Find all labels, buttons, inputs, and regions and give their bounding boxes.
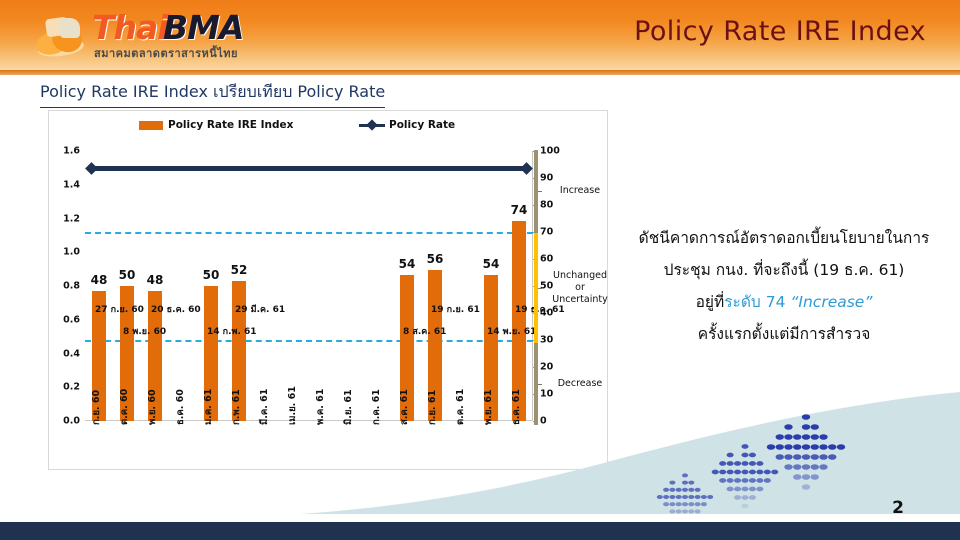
decorative-dot: [802, 454, 810, 460]
decorative-dot: [695, 509, 701, 513]
decorative-dot: [767, 444, 775, 450]
decorative-dot: [749, 470, 756, 475]
decorative-dot: [756, 487, 763, 492]
wave-shape: [300, 392, 960, 514]
left-axis-tick: 1.2: [63, 213, 80, 224]
decorative-dot: [756, 470, 763, 475]
bar-value-label: 74: [499, 203, 539, 217]
meeting-date-label: 27 ก.ย. 60: [95, 302, 144, 316]
decorative-dot: [682, 495, 688, 499]
threshold-line-70: [85, 232, 533, 234]
legend-swatch-bar-icon: [139, 121, 163, 130]
decorative-dot: [682, 481, 688, 485]
decorative-dot: [741, 495, 748, 500]
category-bracket-tick: [538, 191, 542, 192]
decorative-dot: [793, 454, 801, 460]
decorative-dot: [727, 461, 734, 466]
wave-dots-graphic: [0, 392, 960, 522]
left-axis-tick: 0.8: [63, 281, 80, 292]
category-bracket-tick: [538, 384, 542, 385]
chart-plot-area: 0.00.20.40.60.81.01.21.41.6 010203040506…: [85, 151, 533, 421]
bar-value-label: 56: [415, 252, 455, 266]
meeting-date-label: 14 ก.พ. 61: [207, 324, 257, 338]
decorative-dot: [749, 478, 756, 483]
decorative-dot: [802, 444, 810, 450]
index-category-legend: IncreaseUnchangedorUncertaintyDecrease: [534, 145, 614, 430]
bar-value-label: 48: [135, 273, 175, 287]
legend-item-ire-index: Policy Rate IRE Index: [139, 119, 293, 131]
decorative-dot: [695, 495, 701, 499]
page-number: 2: [892, 498, 904, 518]
meeting-date-label: 20 ธ.ค. 60: [151, 302, 201, 316]
decorative-dot: [741, 470, 748, 475]
decorative-dot: [741, 444, 748, 449]
decorative-dot: [802, 434, 810, 440]
decorative-dot: [688, 495, 694, 499]
page-title: Policy Rate IRE Index: [634, 16, 926, 47]
decorative-dot: [819, 454, 827, 460]
decorative-dot: [771, 470, 778, 475]
decorative-dot: [682, 473, 688, 477]
decorative-dot: [802, 424, 810, 430]
decorative-dot: [676, 488, 682, 492]
logo-text-bma: BMA: [163, 8, 244, 47]
decorative-dot: [811, 434, 819, 440]
policy-rate-marker: [520, 162, 533, 175]
meeting-date-label: 8 ส.ค. 61: [403, 324, 446, 338]
decorative-dot: [756, 461, 763, 466]
decorative-dot: [764, 478, 771, 483]
legend-label-policy-rate: Policy Rate: [389, 119, 455, 131]
decorative-dot: [663, 495, 669, 499]
decorative-dot: [657, 495, 663, 499]
summary-index-tag: “Increase”: [790, 293, 872, 311]
decorative-dot: [802, 474, 810, 480]
summary-line-3-prefix: อยู่ที่: [696, 293, 725, 311]
decorative-dot: [719, 470, 726, 475]
decorative-dot: [734, 487, 741, 492]
left-axis-tick: 1.0: [63, 247, 80, 258]
bottom-decoration: [0, 392, 960, 522]
decorative-dot: [734, 478, 741, 483]
decorative-dot: [741, 487, 748, 492]
decorative-dot: [811, 454, 819, 460]
decorative-dot: [784, 434, 792, 440]
decorative-dot: [676, 509, 682, 513]
decorative-dot: [793, 464, 801, 470]
category-bracket-tick: [538, 288, 542, 289]
chart-legend: Policy Rate IRE Index Policy Rate: [49, 119, 609, 139]
decorative-dot: [756, 478, 763, 483]
decorative-dot: [811, 464, 819, 470]
decorative-dot: [688, 481, 694, 485]
decorative-dot: [695, 488, 701, 492]
summary-line-2: ประชุม กนง. ที่จะถึงนี้ (19 ธ.ค. 61): [616, 254, 952, 286]
decorative-dot: [776, 444, 784, 450]
decorative-dot: [712, 470, 719, 475]
decorative-dot: [802, 414, 810, 420]
flower-logo-icon: [36, 18, 94, 54]
category-label: UnchangedorUncertainty: [546, 270, 614, 306]
decorative-dot: [811, 474, 819, 480]
thaibma-logo: Thai BMA สมาคมตลาดตราสารหนี้ไทย: [30, 6, 270, 64]
decorative-dot: [669, 509, 675, 513]
decorative-dot: [676, 502, 682, 506]
decorative-dot: [828, 444, 836, 450]
policy-rate-line-segment: [89, 166, 529, 171]
decorative-dot: [727, 470, 734, 475]
decorative-dot: [734, 470, 741, 475]
summary-index-value: ระดับ 74: [724, 293, 785, 311]
decorative-dot: [682, 509, 688, 513]
decorative-dot: [669, 502, 675, 506]
decorative-dot: [811, 444, 819, 450]
decorative-dot: [793, 434, 801, 440]
decorative-dot: [719, 461, 726, 466]
decorative-dot: [819, 444, 827, 450]
decorative-dot: [663, 488, 669, 492]
decorative-dot: [682, 488, 688, 492]
logo-text-thai: Thai: [92, 8, 168, 47]
summary-text-block: ดัชนีคาดการณ์อัตราดอกเบี้ยนโยบายในการ ปร…: [616, 222, 952, 350]
meeting-date-label: 19 ก.ย. 61: [431, 302, 480, 316]
summary-line-1: ดัชนีคาดการณ์อัตราดอกเบี้ยนโยบายในการ: [616, 222, 952, 254]
category-label: Decrease: [546, 378, 614, 390]
decorative-dot: [727, 487, 734, 492]
bar-value-label: 54: [471, 257, 511, 271]
left-axis-tick: 1.6: [63, 146, 80, 157]
meeting-date-label: 29 มี.ค. 61: [235, 302, 285, 316]
decorative-dot: [695, 502, 701, 506]
summary-line-3: อยู่ที่ระดับ 74 “Increase”: [616, 286, 952, 318]
decorative-dot: [719, 478, 726, 483]
plot-inner: 0.00.20.40.60.81.01.21.41.6 010203040506…: [85, 151, 533, 421]
decorative-dot: [741, 453, 748, 458]
decorative-dot: [749, 453, 756, 458]
decorative-dot: [819, 434, 827, 440]
decorative-dot: [776, 454, 784, 460]
logo-subtitle-thai: สมาคมตลาดตราสารหนี้ไทย: [94, 44, 238, 62]
decorative-dot: [727, 478, 734, 483]
decorative-dot: [682, 502, 688, 506]
decorative-dot: [734, 461, 741, 466]
summary-line-4: ครั้งแรกตั้งแต่มีการสำรวจ: [616, 318, 952, 350]
meeting-date-label: 14 พ.ย. 61: [487, 324, 536, 338]
category-label: Increase: [546, 185, 614, 197]
decorative-dot: [819, 464, 827, 470]
header-divider: [0, 70, 960, 75]
policy-rate-marker: [85, 162, 98, 175]
decorative-dot: [811, 424, 819, 430]
decorative-dot: [707, 495, 713, 499]
decorative-dot: [741, 478, 748, 483]
slide-subtitle: Policy Rate IRE Index เปรียบเทียบ Policy…: [40, 80, 385, 108]
bar-value-label: 52: [219, 263, 259, 277]
legend-item-policy-rate: Policy Rate: [359, 119, 455, 131]
legend-swatch-line-icon: [359, 120, 385, 130]
decorative-dot: [837, 444, 845, 450]
decorative-dot: [802, 464, 810, 470]
decorative-dot: [776, 434, 784, 440]
decorative-dot: [734, 495, 741, 500]
decorative-dot: [688, 488, 694, 492]
decorative-dot: [802, 484, 810, 490]
bottom-bar: [0, 522, 960, 540]
decorative-dot: [784, 424, 792, 430]
decorative-dot: [669, 488, 675, 492]
decorative-dot: [784, 464, 792, 470]
decorative-dot: [749, 461, 756, 466]
decorative-dot: [676, 495, 682, 499]
decorative-dot: [749, 487, 756, 492]
legend-label-ire-index: Policy Rate IRE Index: [168, 119, 293, 131]
decorative-dot: [741, 504, 748, 509]
decorative-dot: [793, 474, 801, 480]
decorative-dot: [669, 481, 675, 485]
decorative-dot: [764, 470, 771, 475]
decorative-dot: [828, 454, 836, 460]
decorative-dot: [793, 444, 801, 450]
left-axis-tick: 0.4: [63, 348, 80, 359]
decorative-dot: [701, 495, 707, 499]
meeting-date-label: 8 พ.ย. 60: [123, 324, 166, 338]
decorative-dot: [727, 453, 734, 458]
decorative-dot: [688, 509, 694, 513]
decorative-dot: [784, 454, 792, 460]
decorative-dot: [663, 502, 669, 506]
decorative-dot: [688, 502, 694, 506]
decorative-dot: [749, 495, 756, 500]
decorative-dot: [669, 495, 675, 499]
decorative-dot: [701, 502, 707, 506]
left-axis-tick: 1.4: [63, 179, 80, 190]
decorative-dot: [784, 444, 792, 450]
decorative-dot: [741, 461, 748, 466]
left-axis-tick: 0.6: [63, 314, 80, 325]
